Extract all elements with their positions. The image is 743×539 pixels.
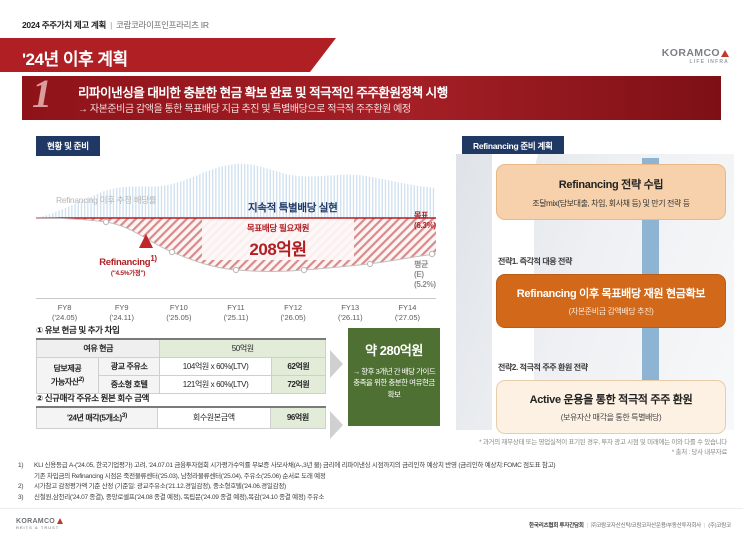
axis-tick: FY12('26.05): [265, 303, 322, 323]
summary-amount: 약 280억원: [348, 340, 440, 359]
strategy2-label: 전략2. 적극적 주주 환원 전략: [498, 362, 588, 373]
arrow-right-icon: [330, 350, 343, 378]
asset-amount: 62억원: [271, 358, 325, 376]
box1-title: Refinancing 전략 수립: [497, 176, 725, 192]
footer-entity: 한국리츠협회 투자간담회: [529, 523, 584, 529]
footnote-item: 1) KLI 신용등급 A-('24.05, 한국기업평가) 고려, '24.0…: [18, 461, 730, 472]
footnote-text: KLI 신용등급 A-('24.05, 한국기업평가) 고려, '24.07.0…: [34, 461, 555, 472]
axis-tick: FY8('24.05): [36, 303, 93, 323]
box2-subtitle: (자본준비금 감액배당 추진): [497, 306, 725, 317]
chart-point: [367, 261, 372, 266]
footnote-text: 신철원,삼천리('24.07 종결), 중앙로셀프('24.08 종결 예정),…: [34, 493, 324, 504]
refinancing-marker-label: Refinancing1) ("4.5%가정"): [80, 254, 176, 277]
footer-logo: KORAMCO REITS & TRUST: [16, 518, 63, 530]
banner-subline: → 자본준비금 감액을 통한 목표배당 지급 추진 및 특별배당으로 적극적 주…: [78, 100, 411, 115]
cash-label: 여유 현금: [37, 339, 160, 358]
footer-detail: ㈜코람코자산신탁/코람코자산운용/부동산투자회사: [591, 523, 701, 529]
strategy-box-refinancing-strategy: Refinancing 전략 수립 조달mix(담보대출, 차입, 회사채 등)…: [496, 164, 726, 220]
key-message-banner: 1 리파이낸싱을 대비한 충분한 현금 확보 완료 및 적극적인 주주환원정책 …: [22, 76, 721, 120]
axis-tick: FY13('26.11): [322, 303, 379, 323]
footer-logo-tagline: REITS & TRUST: [16, 526, 63, 530]
box2-title: Refinancing 이후 목표배당 재원 현금확보: [497, 285, 725, 301]
strategy-box-active-return: Active 운용을 통한 적극적 주주 환원 (보유자산 매각을 통한 특별배…: [496, 380, 726, 434]
asset-label: 담보제공가능자산2): [37, 358, 99, 394]
box1-subtitle: 조달mix(담보대출, 차입, 회사채 등) 및 만기 전략 등: [497, 198, 725, 209]
chart-estimate-label: Refinancing 이후 추정 배당률: [56, 194, 156, 206]
footer-tail: (주)코람코: [708, 523, 731, 529]
reserve-cash-table: 여유 현금 50억원 담보제공가능자산2) 광교 주유소 104억원 x 60%…: [36, 338, 326, 394]
disclaimer: * 과거의 재무상태 또는 영업실적이 표기된 경우, 투자 광고 시점 및 미…: [479, 438, 727, 458]
right-panel: Refinancing 전략 수립 조달mix(담보대출, 차입, 회사채 등)…: [452, 128, 737, 438]
chart-requirement-callout: 목표배당 필요재원 208억원: [214, 222, 342, 260]
footnote-item: 2) 시가참고 감정평가액 기준 산정 (기준일: 광교주유소('21.12.경…: [18, 482, 730, 493]
sale-middle: 회수원본금액: [157, 407, 270, 428]
footer-divider: [0, 508, 743, 509]
banner-headline: 리파이낸싱을 대비한 충분한 현금 확보 완료 및 적극적인 주주환원정책 시행: [78, 82, 448, 101]
chart-point: [233, 267, 238, 272]
asset-name: 광교 주유소: [98, 358, 160, 376]
sale-footnote-ref: 3): [122, 412, 127, 419]
box3-title: Active 운용을 통한 적극적 주주 환원: [497, 391, 725, 407]
table-row: 담보제공가능자산2) 광교 주유소 104억원 x 60%(LTV) 62억원: [37, 358, 326, 376]
footer-separator: |: [584, 523, 591, 529]
table1-heading: ① 유보 현금 및 추가 차입: [36, 324, 119, 336]
asset-sale-recovery-table: '24년 매각(5개소)3) 회수원본금액 96억원: [36, 406, 326, 429]
cash-value: 50억원: [160, 339, 326, 358]
footnotes: 1) KLI 신용등급 A-('24.05, 한국기업평가) 고려, '24.0…: [18, 461, 730, 503]
kicker-subtitle: 코람코라이프인프라리츠 IR: [116, 20, 209, 30]
chart-average-label: 평균(E)(5.2%): [414, 260, 436, 290]
brand-triangle-icon: [721, 50, 729, 57]
brand-logo-tagline: LIFE INFRA: [662, 60, 729, 65]
footer-triangle-icon: [57, 518, 63, 524]
table-row: 여유 현금 50억원: [37, 339, 326, 358]
table2-heading: ② 신규매각 주유소 원본 회수 금액: [36, 392, 149, 404]
page-title: '24년 이후 계획: [22, 45, 128, 70]
asset-footnote-ref: 2): [79, 376, 84, 383]
strategy-box-cash-secure: Refinancing 이후 목표배당 재원 현금확보 (자본준비금 감액배당 …: [496, 274, 726, 328]
chart-point: [429, 251, 434, 256]
asset-calc: 104억원 x 60%(LTV): [160, 358, 271, 376]
footnote-item: 3) 신철원,삼천리('24.07 종결), 중앙로셀프('24.08 종결 예…: [18, 493, 730, 504]
axis-tick: FY11('25.11): [207, 303, 264, 323]
disclaimer-line1: * 과거의 재무상태 또는 영업실적이 표기된 경우, 투자 광고 시점 및 미…: [479, 438, 727, 448]
footnote-continuation: 기존 차입금의 Refinancing 시점은 죽전물류센터('25.03), …: [18, 472, 730, 483]
chart-goal-label: 목표(6.3%): [414, 211, 436, 231]
asset-calc: 121억원 x 60%(LTV): [160, 376, 271, 394]
footer-meta: 한국리츠협회 투자간담회|㈜코람코자산신탁/코람코자산운용/부동산투자회사|(주…: [529, 521, 731, 529]
kicker-separator: |: [106, 20, 116, 30]
requirement-amount: 208억원: [214, 235, 342, 260]
chart-point: [301, 267, 306, 272]
page-title-bar: '24년 이후 계획: [0, 38, 310, 72]
asset-amount: 72억원: [271, 376, 325, 394]
axis-tick: FY14('27.05): [379, 303, 436, 323]
footer-logo-name: KORAMCO: [16, 518, 63, 525]
strategy1-label: 전략1. 즉각적 대응 전략: [498, 256, 572, 267]
refi-assumption: ("4.5%가정"): [80, 270, 176, 278]
footnote-number: 3): [18, 493, 34, 504]
footnote-text: 시가참고 감정평가액 기준 산정 (기준일: 광교주유소('21.12.경일감정…: [34, 482, 286, 493]
banner-number: 1: [32, 74, 52, 114]
chart-special-dividend-label: 지속적 특별배당 실현: [248, 200, 337, 215]
axis-ticks: FY8('24.05) FY9('24.11) FY10('25.05) FY1…: [36, 303, 436, 323]
axis-tick: FY10('25.05): [150, 303, 207, 323]
asset-name: 중소형 호텔: [98, 376, 160, 394]
chart-point: [103, 219, 108, 224]
brand-logo: KORAMCO LIFE INFRA: [662, 48, 729, 65]
brand-logo-name: KORAMCO: [662, 48, 729, 59]
total-cash-summary-box: 약 280억원 → 향후 3개년 간 배당 가이드 충족을 위한 충분한 여유현…: [348, 328, 440, 426]
axis-line: [36, 298, 436, 299]
kicker-main: 2024 주주가치 제고 계획: [22, 20, 106, 30]
sale-label: '24년 매각(5개소)3): [37, 407, 158, 428]
disclaimer-line2: * 출처 : 당사 내부자료: [479, 448, 727, 458]
box3-subtitle: (보유자산 매각을 통한 특별배당): [497, 412, 725, 423]
requirement-title: 목표배당 필요재원: [214, 222, 342, 234]
header-kicker: 2024 주주가치 제고 계획|코람코라이프인프라리츠 IR: [22, 19, 209, 31]
summary-description: → 향후 3개년 간 배당 가이드 충족을 위한 충분한 여유현금 확보: [348, 366, 440, 400]
chart-axis: FY8('24.05) FY9('24.11) FY10('25.05) FY1…: [36, 298, 436, 323]
dividend-projection-chart: Refinancing 이후 추정 배당률 지속적 특별배당 실현 목표배당 필…: [36, 156, 436, 296]
left-panel: Refinancing 이후 추정 배당률 지속적 특별배당 실현 목표배당 필…: [22, 128, 442, 438]
axis-tick: FY9('24.11): [93, 303, 150, 323]
table-row: '24년 매각(5개소)3) 회수원본금액 96억원: [37, 407, 326, 428]
footnote-number: 2): [18, 482, 34, 493]
chart-estimate-band: [36, 164, 436, 218]
sale-amount: 96억원: [270, 407, 325, 428]
arrow-right-icon: [330, 411, 343, 439]
refi-footnote-ref: 1): [150, 254, 156, 263]
footnote-number: 1): [18, 461, 34, 472]
